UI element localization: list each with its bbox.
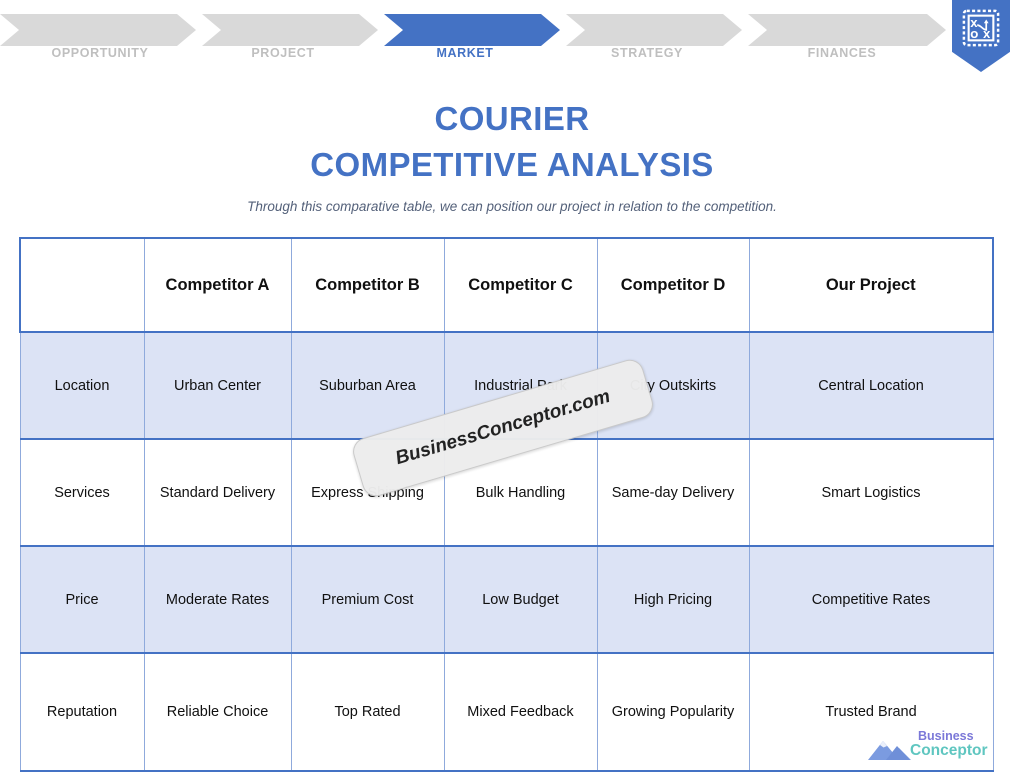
nav-label-market[interactable]: MARKET [372, 46, 558, 60]
cell-price-competitor-c: Low Budget [444, 546, 597, 653]
page-title-block: COURIER COMPETITIVE ANALYSIS Through thi… [0, 96, 1024, 214]
footer-logo-text: Business Conceptor [918, 730, 988, 757]
nav-label-opportunity[interactable]: OPPORTUNITY [0, 46, 200, 60]
cell-reputation-competitor-d: Growing Popularity [597, 653, 749, 771]
row-label-reputation: Reputation [20, 653, 144, 771]
strategy-board-icon: X O X [962, 9, 1000, 47]
nav-label-strategy[interactable]: STRATEGY [554, 46, 740, 60]
nav-chevron-strategy[interactable] [566, 14, 742, 46]
row-label-price: Price [20, 546, 144, 653]
cell-services-competitor-d: Same-day Delivery [597, 439, 749, 546]
nav-chevron-market[interactable] [384, 14, 560, 46]
cell-services-our-project: Smart Logistics [749, 439, 993, 546]
column-header-competitor-b: Competitor B [291, 238, 444, 332]
cell-reputation-competitor-b: Top Rated [291, 653, 444, 771]
column-header-our-project: Our Project [749, 238, 993, 332]
cell-price-competitor-b: Premium Cost [291, 546, 444, 653]
svg-text:O: O [970, 30, 978, 41]
row-label-services: Services [20, 439, 144, 546]
table-header-row: Competitor A Competitor B Competitor C C… [20, 238, 993, 332]
cell-price-our-project: Competitive Rates [749, 546, 993, 653]
page-title-line1: COURIER [0, 96, 1024, 142]
cell-price-competitor-d: High Pricing [597, 546, 749, 653]
table-row-price: Price Moderate Rates Premium Cost Low Bu… [20, 546, 993, 653]
step-navigation-bar: OPPORTUNITY PROJECT MARKET STRATEGY FINA… [0, 0, 1024, 78]
table-row-reputation: Reputation Reliable Choice Top Rated Mix… [20, 653, 993, 771]
competitive-analysis-table: Competitor A Competitor B Competitor C C… [19, 237, 994, 772]
nav-label-finances[interactable]: FINANCES [744, 46, 940, 60]
market-section-badge: X O X [952, 0, 1010, 72]
competitive-analysis-table-wrap: Competitor A Competitor B Competitor C C… [19, 237, 992, 772]
cell-location-our-project: Central Location [749, 332, 993, 439]
svg-text:X: X [970, 19, 978, 30]
cell-price-competitor-a: Moderate Rates [144, 546, 291, 653]
chevron-track [0, 14, 946, 46]
cell-location-competitor-a: Urban Center [144, 332, 291, 439]
row-label-location: Location [20, 332, 144, 439]
column-header-competitor-a: Competitor A [144, 238, 291, 332]
nav-chevron-finances[interactable] [748, 14, 946, 46]
cell-reputation-competitor-a: Reliable Choice [144, 653, 291, 771]
cell-reputation-competitor-c: Mixed Feedback [444, 653, 597, 771]
svg-text:X: X [983, 30, 991, 41]
column-header-competitor-d: Competitor D [597, 238, 749, 332]
nav-label-project[interactable]: PROJECT [190, 46, 376, 60]
page-title-line2: COMPETITIVE ANALYSIS [0, 142, 1024, 188]
footer-logo: Business Conceptor [866, 730, 1016, 764]
nav-chevron-project[interactable] [202, 14, 378, 46]
footer-logo-word-conceptor: Conceptor [910, 744, 988, 757]
page-subtitle: Through this comparative table, we can p… [0, 199, 1024, 214]
cell-services-competitor-a: Standard Delivery [144, 439, 291, 546]
column-header-competitor-c: Competitor C [444, 238, 597, 332]
nav-chevron-opportunity[interactable] [0, 14, 196, 46]
table-corner-cell [20, 238, 144, 332]
